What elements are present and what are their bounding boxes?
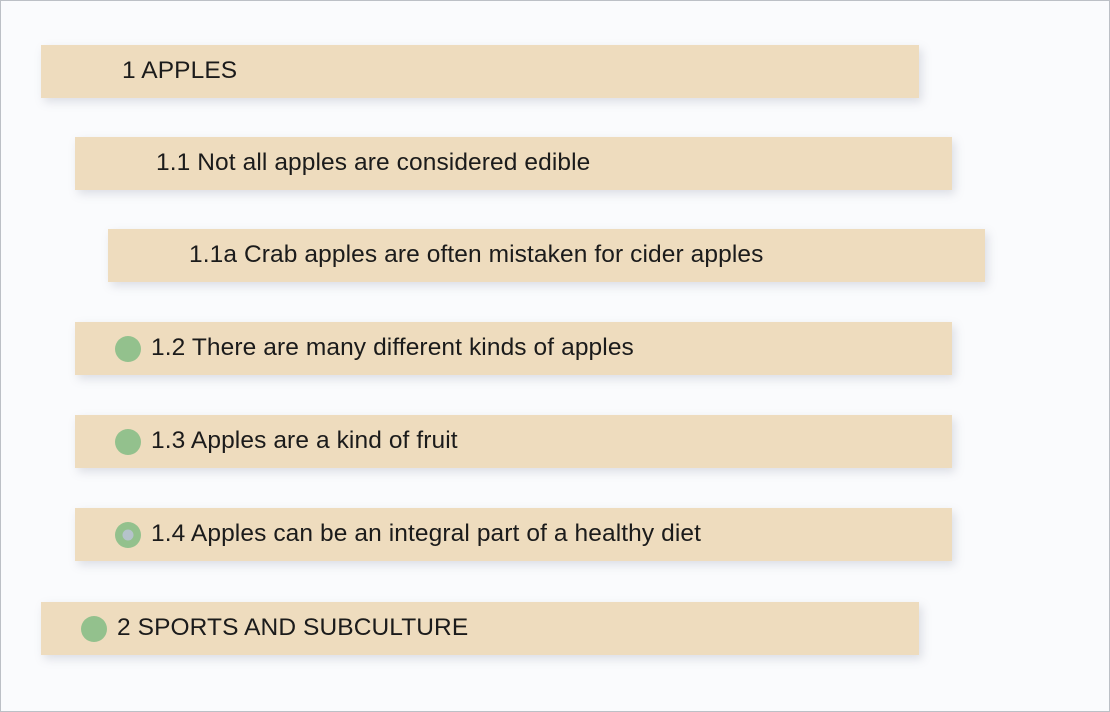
green-donut-dot-icon[interactable]	[115, 522, 141, 548]
green-dot-icon[interactable]	[115, 336, 141, 362]
outline-row-label: 2 SPORTS AND SUBCULTURE	[117, 616, 468, 641]
row-content: 1.1 Not all apples are considered edible	[75, 151, 590, 176]
outline-row-label: 1.4 Apples can be an integral part of a …	[151, 522, 701, 547]
row-content: 1.1a Crab apples are often mistaken for …	[108, 243, 763, 268]
outline-canvas: 1 APPLES 1.1 Not all apples are consider…	[0, 0, 1110, 712]
outline-row-1-3[interactable]: 1.3 Apples are a kind of fruit	[75, 415, 952, 468]
outline-row-label: 1 APPLES	[122, 59, 237, 84]
row-content: 1.3 Apples are a kind of fruit	[75, 429, 458, 455]
outline-row-1-2[interactable]: 1.2 There are many different kinds of ap…	[75, 322, 952, 375]
outline-row-2-sports-and-subculture[interactable]: 2 SPORTS AND SUBCULTURE	[41, 602, 919, 655]
outline-row-label: 1.1a Crab apples are often mistaken for …	[189, 243, 763, 268]
outline-row-1-1a[interactable]: 1.1a Crab apples are often mistaken for …	[108, 229, 985, 282]
row-content: 1 APPLES	[41, 59, 237, 84]
outline-row-label: 1.2 There are many different kinds of ap…	[151, 336, 634, 361]
outline-row-1-4[interactable]: 1.4 Apples can be an integral part of a …	[75, 508, 952, 561]
outline-row-label: 1.3 Apples are a kind of fruit	[151, 429, 458, 454]
green-dot-icon[interactable]	[115, 429, 141, 455]
outline-row-1-1[interactable]: 1.1 Not all apples are considered edible	[75, 137, 952, 190]
row-content: 1.4 Apples can be an integral part of a …	[75, 522, 701, 548]
row-content: 1.2 There are many different kinds of ap…	[75, 336, 634, 362]
green-dot-icon[interactable]	[81, 616, 107, 642]
outline-row-label: 1.1 Not all apples are considered edible	[156, 151, 590, 176]
outline-row-1-apples[interactable]: 1 APPLES	[41, 45, 919, 98]
row-content: 2 SPORTS AND SUBCULTURE	[41, 616, 468, 642]
